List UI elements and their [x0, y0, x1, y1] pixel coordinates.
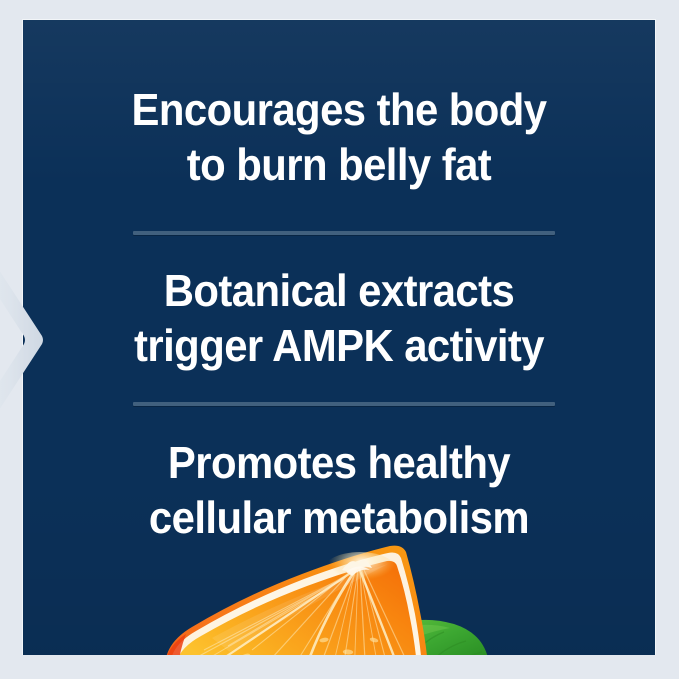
benefits-card: Encourages the body to burn belly fat Bo…	[23, 20, 655, 655]
bottom-background-strip	[0, 655, 679, 679]
benefit-divider-1	[133, 231, 555, 235]
benefit-item-ampk-activity: Botanical extracts trigger AMPK activity	[45, 263, 633, 373]
benefit-item-burn-belly-fat: Encourages the body to burn belly fat	[45, 82, 633, 192]
benefits-list: Encourages the body to burn belly fat Bo…	[23, 20, 655, 655]
benefit-item-cellular-metabolism: Promotes healthy cellular metabolism	[45, 435, 633, 545]
benefit-divider-2	[133, 402, 555, 406]
product-benefits-graphic: Encourages the body to burn belly fat Bo…	[0, 0, 679, 679]
